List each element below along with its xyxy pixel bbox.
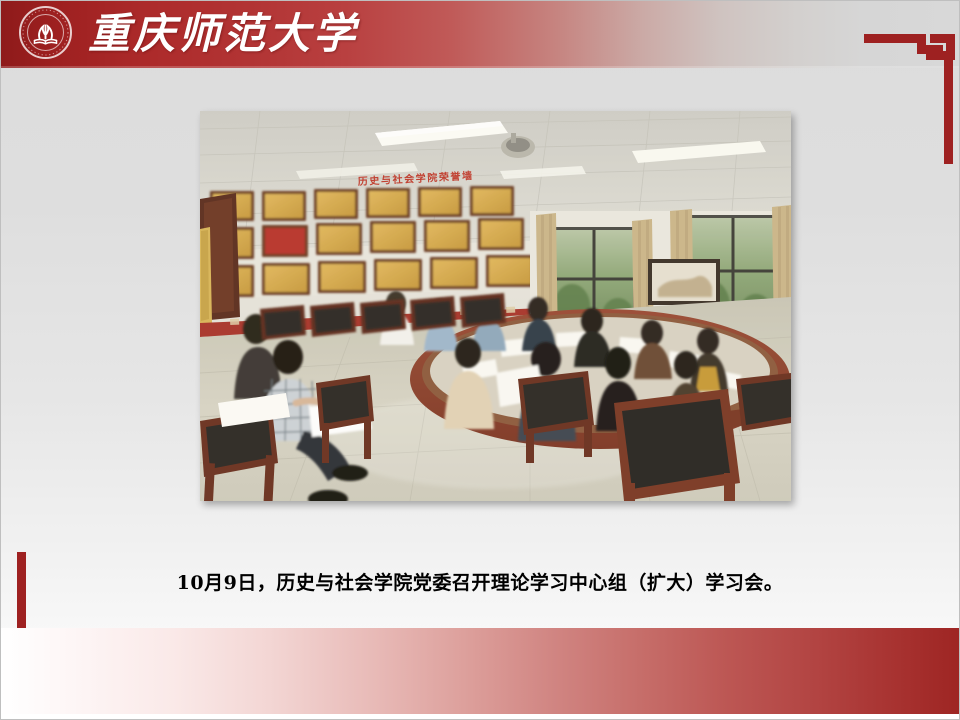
footer-banner xyxy=(0,628,960,714)
meeting-photo: 历史与社会学院荣誉墙 xyxy=(200,111,791,501)
page-title: 重庆师范大学 xyxy=(88,6,358,62)
meeting-photo-image: 历史与社会学院荣誉墙 xyxy=(200,111,791,501)
seal-emblem-icon xyxy=(19,6,76,63)
corner-ornament-top-right xyxy=(864,8,960,168)
photo-caption: 10月9日，历史与社会学院党委召开理论学习中心组（扩大）学习会。 xyxy=(0,568,960,595)
footer-edge xyxy=(0,714,960,720)
presentation-slide: 重庆师范大学 xyxy=(0,0,960,720)
university-seal-logo xyxy=(19,6,76,63)
